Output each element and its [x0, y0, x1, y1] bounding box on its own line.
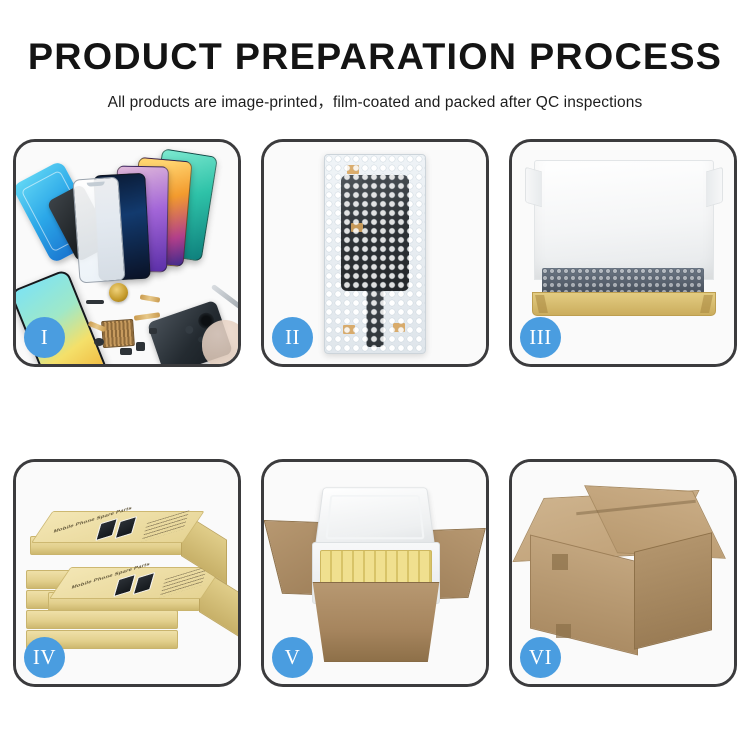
carton-tape-tab-icon: [556, 624, 571, 638]
speaker-coil-icon: [109, 283, 128, 302]
step-badge-1: I: [24, 317, 65, 358]
kraft-box-icon: Mobile Phone Spare Parts: [48, 592, 200, 611]
kraft-box-icon: [26, 610, 178, 629]
small-component-icon: [149, 328, 157, 334]
screen-flex-tail-icon: [367, 285, 384, 347]
process-step-panel-4[interactable]: Mobile Phone Spare Parts Mobile Phone Sp…: [13, 459, 241, 687]
mailer-lid-icon: [534, 160, 714, 280]
screen-protector-icon: [72, 177, 125, 284]
small-component-icon: [120, 348, 132, 355]
step-badge-6: VI: [520, 637, 561, 678]
process-step-panel-6[interactable]: VI: [509, 459, 737, 687]
step-badge-4: IV: [24, 637, 65, 678]
foam-lid-icon: [315, 487, 436, 549]
tape-icon: [351, 223, 363, 232]
small-component-icon: [86, 300, 104, 304]
kraft-box-printed-lid: Mobile Phone Spare Parts: [49, 567, 223, 599]
carton-body-icon: [304, 582, 448, 662]
flex-cable-icon: [140, 294, 161, 302]
step-badge-5: V: [272, 637, 313, 678]
small-component-icon: [94, 338, 104, 346]
step-badge-3: III: [520, 317, 561, 358]
small-component-icon: [136, 342, 145, 351]
step-badge-2: II: [272, 317, 313, 358]
bubble-wrap-fill-icon: [542, 268, 704, 294]
hand-icon: [202, 320, 238, 364]
box-label-thumbnail: [133, 572, 156, 595]
kraft-box-printed-lid: Mobile Phone Spare Parts: [31, 511, 205, 543]
tape-icon: [347, 165, 359, 174]
page-header: PRODUCT PREPARATION PROCESS All products…: [0, 0, 750, 112]
box-label-specs: [160, 566, 208, 598]
chip-array-icon: [101, 319, 135, 348]
process-step-panel-2[interactable]: II: [261, 139, 489, 367]
page-title: PRODUCT PREPARATION PROCESS: [0, 38, 750, 77]
lcd-screen-icon: [341, 175, 409, 291]
kraft-mailer-front-icon: [532, 292, 716, 316]
bubble-wrap-bag-icon: [324, 154, 426, 354]
process-step-panel-5[interactable]: V: [261, 459, 489, 687]
box-label-specs: [142, 510, 190, 542]
process-step-panel-1[interactable]: I: [13, 139, 241, 367]
page-subtitle: All products are image-printed，film-coat…: [0, 90, 750, 112]
kraft-box-icon: Mobile Phone Spare Parts: [30, 536, 182, 555]
process-step-panel-3[interactable]: III: [509, 139, 737, 367]
tape-icon: [343, 325, 355, 334]
process-step-grid: I II III: [13, 139, 737, 687]
tape-icon: [393, 323, 405, 332]
box-label-thumbnail: [115, 516, 138, 539]
phone-lineup-group: [94, 152, 238, 292]
carton-tape-tab-icon: [552, 554, 568, 570]
carton-side-face-icon: [634, 532, 712, 649]
